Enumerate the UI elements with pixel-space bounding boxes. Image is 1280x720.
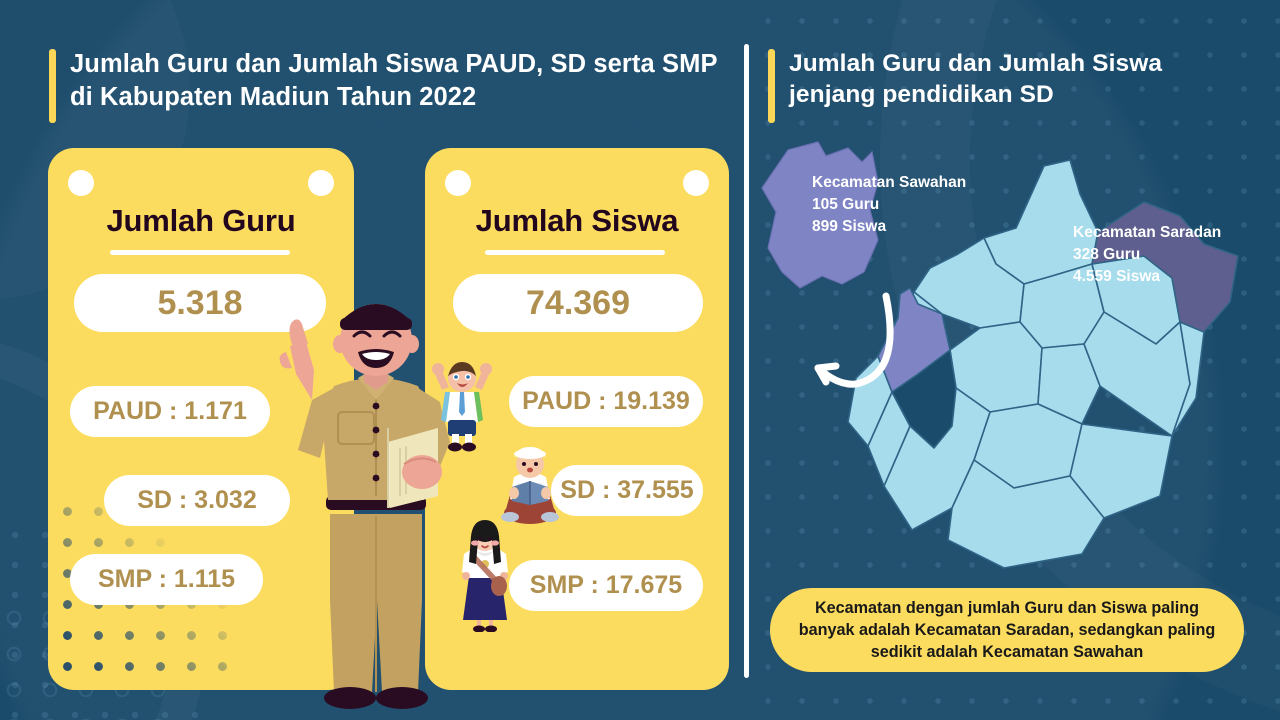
- map-label-sawahan: Kecamatan Sawahan 105 Guru 899 Siswa: [812, 172, 966, 238]
- card-siswa-title: Jumlah Siswa: [425, 203, 729, 239]
- map-label-saradan-district: Kecamatan Saradan: [1073, 222, 1221, 244]
- card-guru-row-smp: SMP : 1.115: [70, 554, 263, 605]
- map-callout-arrow-icon: [818, 296, 890, 384]
- card-siswa-rule: [485, 250, 665, 255]
- card-siswa-total: 74.369: [453, 274, 703, 332]
- infographic-canvas: Jumlah Guru dan Jumlah Siswa PAUD, SD se…: [0, 0, 1280, 720]
- right-title-accent-bar: [768, 49, 775, 123]
- student-reading-boy-illustration: [498, 443, 562, 527]
- map-label-saradan: Kecamatan Saradan 328 Guru 4.559 Siswa: [1073, 222, 1221, 288]
- student-schoolgirl-illustration: [455, 520, 515, 632]
- summary-note-text: Kecamatan dengan jumlah Guru dan Siswa p…: [770, 597, 1244, 664]
- card-guru-title: Jumlah Guru: [48, 203, 354, 239]
- card-guru-row-sd: SD : 3.032: [104, 475, 290, 526]
- panel-divider: [744, 44, 749, 678]
- student-cheering-boy-illustration: [430, 360, 494, 452]
- card-siswa-row-sd: SD : 37.555: [551, 465, 703, 516]
- map-label-saradan-teachers: 328 Guru: [1073, 244, 1221, 266]
- left-title-accent-bar: [49, 49, 56, 123]
- card-guru-rule: [110, 250, 290, 255]
- map-label-saradan-students: 4.559 Siswa: [1073, 266, 1221, 288]
- punch-hole-left-icon: [68, 170, 94, 196]
- punch-hole-right-icon: [683, 170, 709, 196]
- left-panel-title: Jumlah Guru dan Jumlah Siswa PAUD, SD se…: [70, 48, 730, 113]
- right-panel-title: Jumlah Guru dan Jumlah Siswa jenjang pen…: [789, 48, 1249, 111]
- map-label-sawahan-students: 899 Siswa: [812, 216, 966, 238]
- map-label-sawahan-teachers: 105 Guru: [812, 194, 966, 216]
- card-guru-row-paud: PAUD : 1.171: [70, 386, 270, 437]
- summary-note-box: Kecamatan dengan jumlah Guru dan Siswa p…: [770, 588, 1244, 672]
- card-siswa-row-smp: SMP : 17.675: [509, 560, 703, 611]
- map-label-sawahan-district: Kecamatan Sawahan: [812, 172, 966, 194]
- punch-hole-right-icon: [308, 170, 334, 196]
- card-siswa-row-paud: PAUD : 19.139: [509, 376, 703, 427]
- punch-hole-left-icon: [445, 170, 471, 196]
